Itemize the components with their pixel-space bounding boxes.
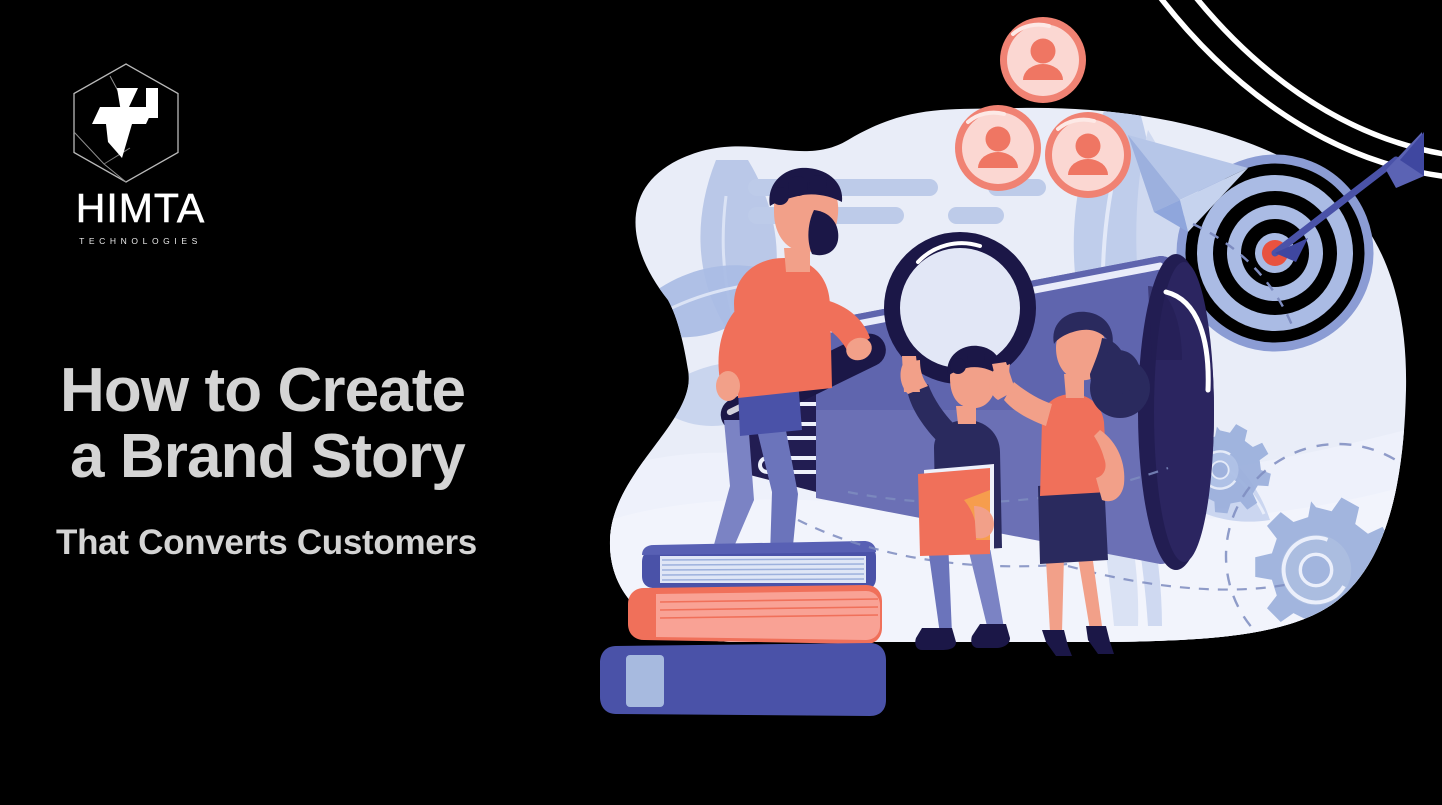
- brand-logo[interactable]: HIMTA TECHNOLOGIES: [48, 62, 248, 242]
- headline-line-2: a Brand Story: [70, 424, 620, 490]
- banner-root: HIMTA TECHNOLOGIES How to Create a Brand…: [0, 0, 1442, 805]
- book-stack: [600, 541, 886, 716]
- user-badge-icon: [1000, 17, 1086, 103]
- brand-story-illustration: [548, 0, 1442, 805]
- headline-subtitle: That Converts Customers: [56, 523, 620, 563]
- user-badge-icon: [1045, 112, 1131, 198]
- headline-line-1: How to Create: [60, 358, 620, 424]
- brand-tagline: TECHNOLOGIES: [48, 236, 233, 246]
- user-badge-icon: [955, 105, 1041, 191]
- brand-wordmark: HIMTA TECHNOLOGIES: [48, 188, 233, 246]
- brand-name: HIMTA: [48, 188, 233, 229]
- page-title: How to Create a Brand Story That Convert…: [60, 358, 620, 563]
- hexagon-monogram-icon: [70, 62, 182, 184]
